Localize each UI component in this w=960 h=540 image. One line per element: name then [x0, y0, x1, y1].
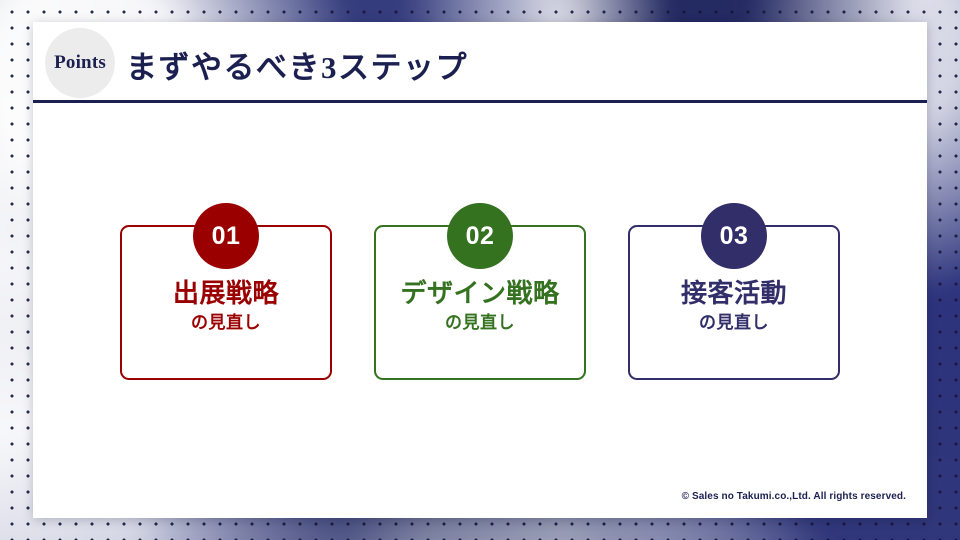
step-number-badge: 03: [701, 203, 767, 269]
content-sheet: Points まずやるべき3ステップ 01 出展戦略 の見直し 02: [33, 22, 927, 518]
step-card-text: デザイン戦略 の見直し: [374, 279, 586, 332]
points-badge: Points: [45, 28, 115, 98]
step-sub-label: の見直し: [628, 314, 840, 333]
step-main-label: 接客活動: [628, 279, 840, 308]
step-number-label: 03: [720, 222, 749, 251]
step-card-text: 接客活動 の見直し: [628, 279, 840, 332]
step-card-02[interactable]: 02 デザイン戦略 の見直し: [374, 203, 586, 380]
copyright-footer: © Sales no Takumi.co.,Ltd. All rights re…: [682, 491, 906, 502]
step-sub-label: の見直し: [120, 314, 332, 333]
step-number-badge: 01: [193, 203, 259, 269]
step-main-label: 出展戦略: [120, 279, 332, 308]
title-divider: [33, 100, 927, 103]
page-title: まずやるべき3ステップ: [126, 42, 468, 87]
step-number-badge: 02: [447, 203, 513, 269]
steps-container: 01 出展戦略 の見直し 02 デザイン戦略 の見直し: [33, 203, 927, 403]
step-card-text: 出展戦略 の見直し: [120, 279, 332, 332]
slide-root: Points まずやるべき3ステップ 01 出展戦略 の見直し 02: [0, 0, 960, 540]
step-main-label: デザイン戦略: [374, 279, 586, 308]
slide-header: Points まずやるべき3ステップ: [33, 22, 927, 102]
step-number-label: 02: [466, 222, 495, 251]
step-card-01[interactable]: 01 出展戦略 の見直し: [120, 203, 332, 380]
points-badge-label: Points: [54, 52, 106, 74]
step-sub-label: の見直し: [374, 314, 586, 333]
step-number-label: 01: [212, 222, 241, 251]
step-card-03[interactable]: 03 接客活動 の見直し: [628, 203, 840, 380]
